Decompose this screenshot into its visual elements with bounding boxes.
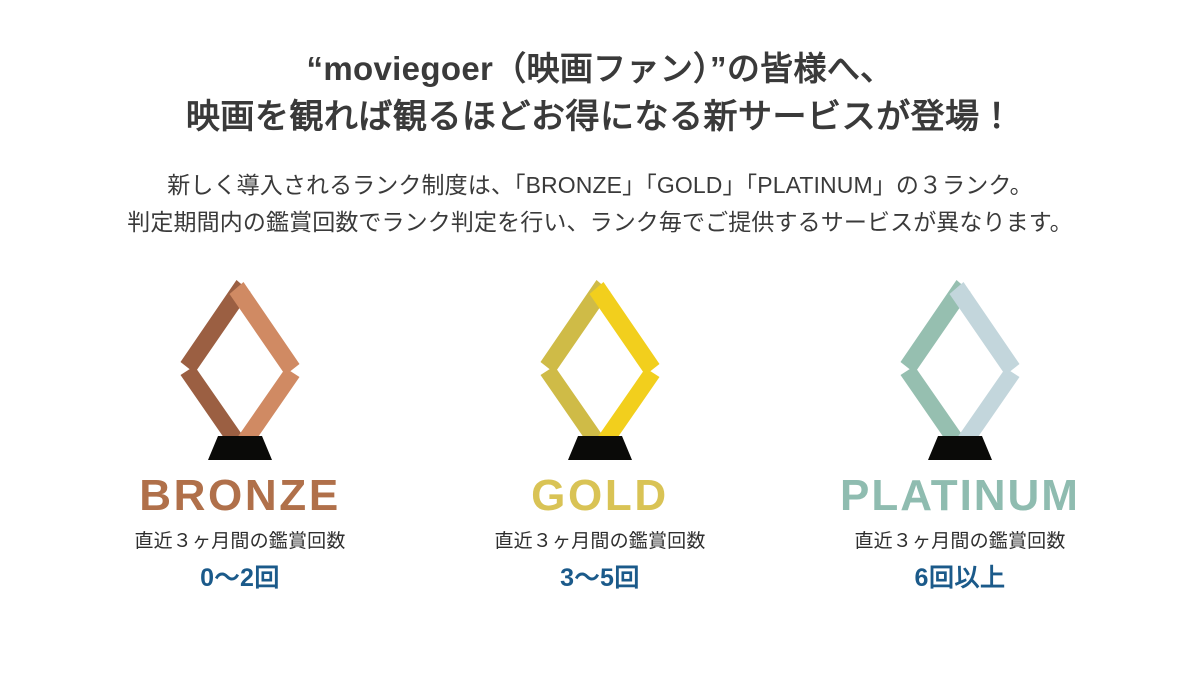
rank-tier-list: BRONZE 直近３ヶ月間の鑑賞回数 0～2回 GOLD 直近３ヶ月間の鑑賞回数… <box>0 276 1200 594</box>
headline-line-1: “moviegoer（映画ファン）”の皆様へ、 <box>0 46 1200 93</box>
trophy-diamond <box>541 280 660 458</box>
rank-service-announcement: “moviegoer（映画ファン）”の皆様へ、 映画を観れば観るほどお得になる新… <box>0 0 1200 692</box>
trophy-base <box>208 436 272 460</box>
rank-card-gold: GOLD 直近３ヶ月間の鑑賞回数 3～5回 <box>420 276 780 594</box>
trophy-diamond <box>901 280 1020 458</box>
lead-line-2: 判定期間内の鑑賞回数でランク判定を行い、ランク毎でご提供するサービスが異なります… <box>0 204 1200 241</box>
rank-name-gold: GOLD <box>531 474 669 518</box>
rank-count-platinum: 6回以上 <box>915 563 1006 593</box>
bronze-trophy-icon <box>170 276 310 462</box>
rank-card-platinum: PLATINUM 直近３ヶ月間の鑑賞回数 6回以上 <box>780 276 1140 594</box>
rank-caption-gold: 直近３ヶ月間の鑑賞回数 <box>494 531 705 554</box>
rank-count-bronze: 0～2回 <box>200 563 280 593</box>
headline-line-2: 映画を観れば観るほどお得になる新サービスが登場！ <box>0 93 1200 141</box>
lead-paragraph: 新しく導入されるランク制度は、「BRONZE」「GOLD」「PLATINUM」の… <box>0 167 1200 242</box>
page-headline: “moviegoer（映画ファン）”の皆様へ、 映画を観れば観るほどお得になる新… <box>0 0 1200 141</box>
rank-caption-bronze: 直近３ヶ月間の鑑賞回数 <box>134 531 345 554</box>
rank-card-bronze: BRONZE 直近３ヶ月間の鑑賞回数 0～2回 <box>60 276 420 594</box>
trophy-base <box>568 436 632 460</box>
platinum-trophy-icon <box>890 276 1030 462</box>
rank-name-platinum: PLATINUM <box>840 474 1080 518</box>
gold-trophy-icon <box>530 276 670 462</box>
rank-name-bronze: BRONZE <box>139 474 341 518</box>
rank-count-gold: 3～5回 <box>560 563 640 593</box>
rank-caption-platinum: 直近３ヶ月間の鑑賞回数 <box>854 531 1065 554</box>
trophy-base <box>928 436 992 460</box>
lead-line-1: 新しく導入されるランク制度は、「BRONZE」「GOLD」「PLATINUM」の… <box>0 167 1200 204</box>
trophy-diamond <box>181 280 300 458</box>
